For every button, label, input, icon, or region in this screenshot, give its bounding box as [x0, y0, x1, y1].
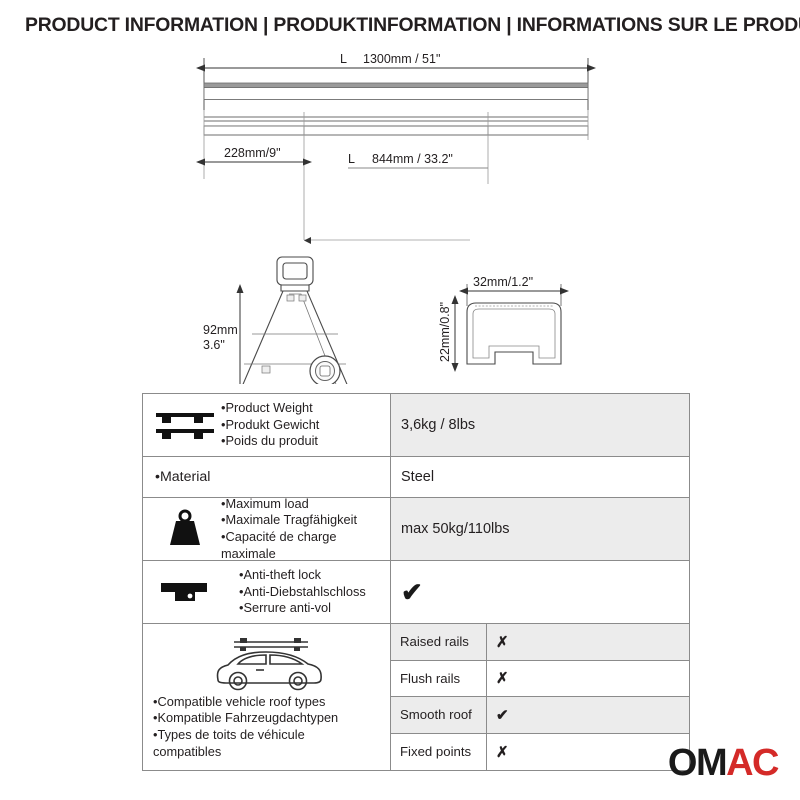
roof-type-row: Fixed points ✗: [391, 734, 689, 771]
spec-label-text: •Maximum load •Maximale Tragfähigkeit •C…: [221, 496, 386, 563]
product-information-sheet: PRODUCT INFORMATION | PRODUKTINFORMATION…: [0, 0, 800, 800]
rail-side-view: [204, 117, 588, 135]
spec-label-text: •Anti-theft lock •Anti-Diebstahlschloss …: [221, 567, 366, 617]
roof-type-row: Flush rails ✗: [391, 661, 689, 698]
spec-value-weight: 3,6kg / 8lbs: [391, 394, 689, 456]
overall-length-value: 1300mm / 51": [363, 52, 440, 66]
spec-label-cell: •Maximum load •Maximale Tragfähigkeit •C…: [143, 498, 391, 560]
span-length-value: 844mm / 33.2": [372, 152, 453, 166]
end-offset-value: 228mm/9": [224, 146, 281, 160]
roof-type-row: Raised rails ✗: [391, 624, 689, 661]
span-length-tag: L: [348, 152, 355, 166]
table-row: •Anti-theft lock •Anti-Diebstahlschloss …: [143, 561, 689, 624]
cross-icon: ✗: [487, 661, 689, 697]
lock-icon: [149, 577, 221, 607]
cross-icon: ✗: [487, 734, 689, 771]
cross-icon: ✗: [487, 624, 689, 660]
check-icon: ✔: [487, 697, 689, 733]
profile-height-value: 22mm/0.8": [438, 302, 452, 362]
table-row: •Product Weight •Produkt Gewicht •Poids …: [143, 394, 689, 457]
spec-label-cell: •Anti-theft lock •Anti-Diebstahlschloss …: [143, 561, 391, 623]
profile-cross-section: [467, 303, 561, 364]
table-row: •Maximum load •Maximale Tragfähigkeit •C…: [143, 498, 689, 561]
roof-type-name: Smooth roof: [391, 697, 487, 733]
spec-value-max-load: max 50kg/110lbs: [391, 498, 689, 560]
roof-bars-icon: [149, 407, 221, 443]
page-title: PRODUCT INFORMATION | PRODUKTINFORMATION…: [25, 14, 780, 37]
logo-text-dark: OM: [668, 742, 726, 784]
logo-text-red: AC: [726, 742, 778, 784]
roof-type-name: Fixed points: [391, 734, 487, 771]
car-with-roofrack-icon: [153, 634, 382, 692]
omac-logo: OMAC: [668, 744, 778, 782]
foot-height-inch-value: 3.6": [203, 338, 225, 352]
spec-label-cell: •Material: [143, 457, 391, 497]
roof-compat-label-cell: •Compatible vehicle roof types •Kompatib…: [143, 624, 391, 770]
table-row: •Compatible vehicle roof types •Kompatib…: [143, 624, 689, 770]
spec-label-text: •Material: [155, 468, 210, 486]
technical-drawing-area: L 1300mm / 51": [0, 44, 800, 384]
roof-type-name: Flush rails: [391, 661, 487, 697]
spec-value-lock: ✔: [391, 561, 689, 623]
roof-type-name: Raised rails: [391, 624, 487, 660]
foot-height-value: 92mm: [203, 323, 238, 337]
roof-type-row: Smooth roof ✔: [391, 697, 689, 734]
spec-label-cell: •Product Weight •Produkt Gewicht •Poids …: [143, 394, 391, 456]
spec-value-material: Steel: [391, 457, 689, 497]
spec-label-text: •Product Weight •Produkt Gewicht •Poids …: [221, 400, 319, 450]
foot-mount-drawing: [238, 257, 352, 384]
table-row: •Material Steel: [143, 457, 689, 498]
overall-length-tag: L: [340, 52, 347, 66]
roof-types-subtable: Raised rails ✗ Flush rails ✗ Smooth roof…: [391, 624, 689, 770]
specification-table: •Product Weight •Produkt Gewicht •Poids …: [142, 393, 690, 771]
roof-compat-label-text: •Compatible vehicle roof types •Kompatib…: [153, 694, 338, 761]
profile-width-value: 32mm/1.2": [473, 275, 533, 289]
rail-top-view: [204, 83, 588, 100]
weight-icon: [149, 509, 221, 549]
technical-drawing-svg: L 1300mm / 51": [0, 44, 800, 384]
check-icon: ✔: [401, 579, 423, 605]
